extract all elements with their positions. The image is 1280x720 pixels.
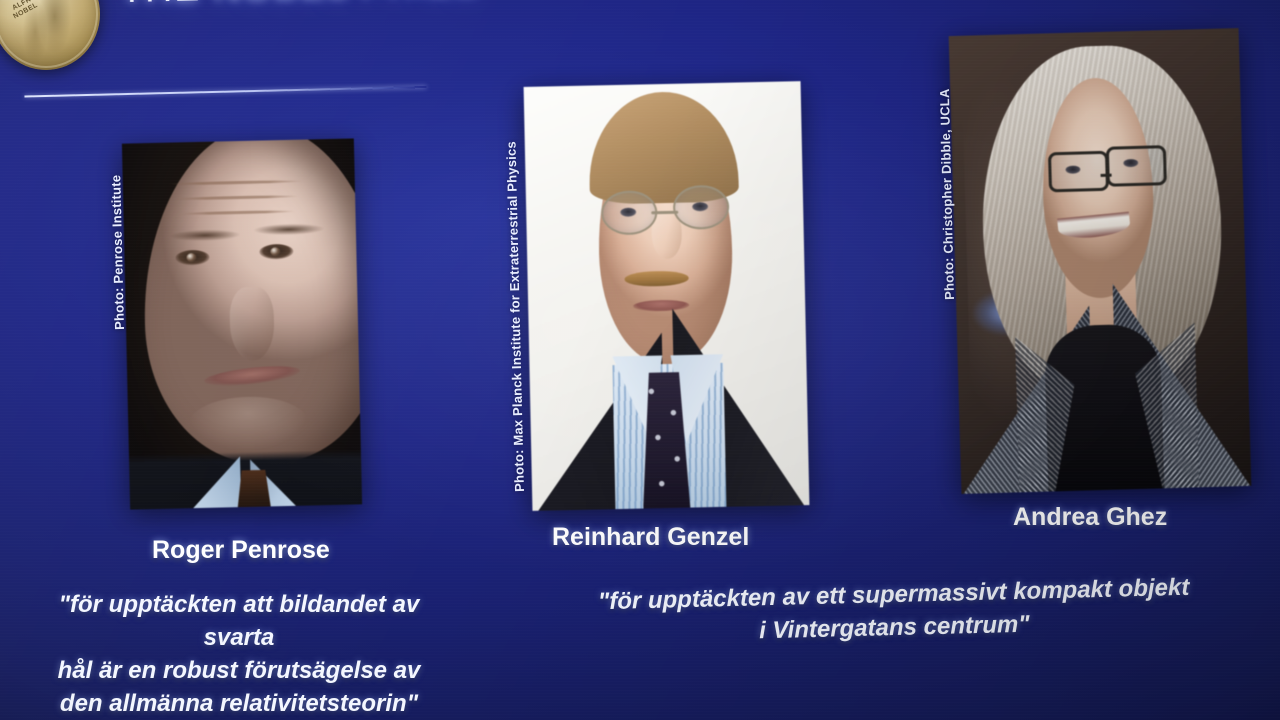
laureate-citation-genzel: "för upptäckten av ett supermassivt komp… (515, 569, 1272, 654)
laureate-citation-penrose: "för upptäckten att bildandet av svarta … (24, 588, 454, 720)
citation-line: hål är en robust förutsägelse av (24, 654, 454, 687)
citation-line: "för upptäckten att bildandet av svarta (24, 588, 454, 654)
laureate-name-genzel: Reinhard Genzel (552, 523, 749, 552)
portrait-genzel-image (524, 81, 810, 511)
portrait-ghez-image (949, 28, 1252, 494)
photo-credit-genzel: Photo: Max Planck Institute for Extrater… (503, 141, 527, 492)
nobel-prize-slide-photograph: THE NOBEL PRIZE ALFR NOBEL Photo: Penros… (0, 0, 1280, 720)
portrait-penrose (122, 138, 362, 509)
laureate-name-ghez: Andrea Ghez (1013, 503, 1167, 532)
nobel-medal-icon: ALFR NOBEL (0, 0, 100, 70)
laureate-name-penrose: Roger Penrose (152, 536, 330, 565)
header-divider (24, 86, 426, 97)
portrait-penrose-image (122, 138, 362, 509)
portrait-genzel (524, 81, 810, 511)
page-title: THE NOBEL PRIZE (119, 0, 480, 12)
citation-line: den allmänna relativitetsteorin" (24, 687, 454, 720)
portrait-ghez (949, 28, 1252, 494)
